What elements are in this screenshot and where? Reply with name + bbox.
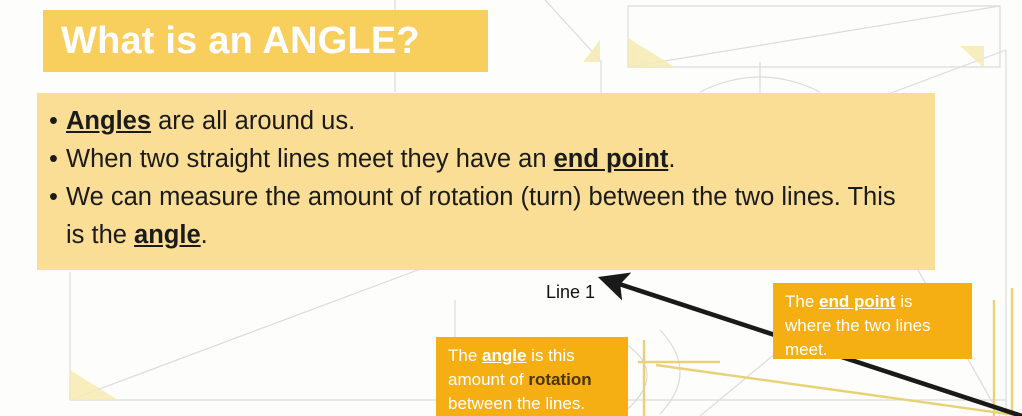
callout-end-point: The end point is where the two lines mee…: [773, 283, 972, 359]
bullet-marker: •: [49, 140, 66, 178]
callout-angle: The angle is this amount of rotation bet…: [436, 337, 628, 416]
list-item: • When two straight lines meet they have…: [37, 140, 935, 178]
bullet-text: When two straight lines meet they have a…: [66, 140, 921, 178]
bullet-marker: •: [49, 102, 66, 140]
slide-canvas: What is an ANGLE? • Angles are all aroun…: [0, 0, 1022, 416]
line-1-label: Line 1: [546, 282, 595, 303]
list-item: • We can measure the amount of rotation …: [37, 178, 935, 254]
slide-title-banner: What is an ANGLE?: [43, 10, 488, 72]
bullet-list-panel: • Angles are all around us. • When two s…: [37, 93, 935, 270]
list-item: • Angles are all around us.: [37, 102, 935, 140]
bullet-text: We can measure the amount of rotation (t…: [66, 178, 921, 254]
bullet-text: Angles are all around us.: [66, 102, 921, 140]
page-title: What is an ANGLE?: [43, 22, 420, 60]
bullet-marker: •: [49, 178, 66, 216]
